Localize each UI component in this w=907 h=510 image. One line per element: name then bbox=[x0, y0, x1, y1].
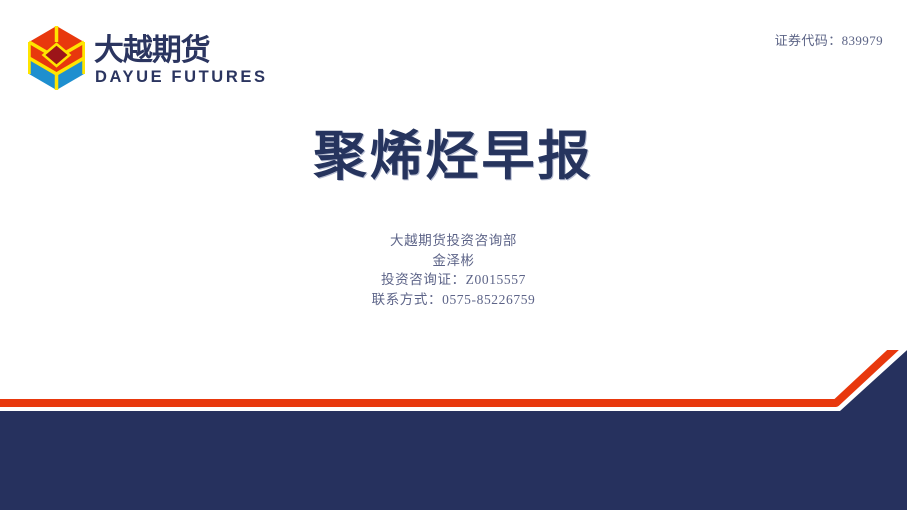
navy-band bbox=[0, 350, 907, 510]
subtitle-department: 大越期货投资咨询部 bbox=[0, 231, 907, 251]
subtitle-author: 金泽彬 bbox=[0, 251, 907, 271]
dayue-hexagon-logo-icon bbox=[28, 25, 85, 91]
svg-text:大越期货: 大越期货 bbox=[94, 33, 210, 67]
bottom-angled-banner bbox=[0, 350, 907, 510]
logo-wordmark: 大越期货 DAYUE FUTURES bbox=[94, 32, 268, 86]
title-container: 聚烯烃早报 bbox=[0, 128, 907, 187]
security-code-label: 证券代码：839979 bbox=[775, 30, 883, 49]
page-title: 聚烯烃早报 bbox=[0, 128, 907, 187]
orange-stripe bbox=[0, 350, 907, 403]
logo-english-name: DAYUE FUTURES bbox=[94, 69, 268, 86]
company-logo: 大越期货 DAYUE FUTURES bbox=[28, 25, 268, 91]
logo-chinese-name-icon: 大越期货 bbox=[94, 32, 234, 68]
subtitle-contact: 联系方式：0575-85226759 bbox=[0, 290, 907, 310]
subtitle-license: 投资咨询证：Z0015557 bbox=[0, 270, 907, 290]
subtitle-container: 大越期货投资咨询部 金泽彬 投资咨询证：Z0015557 联系方式：0575-8… bbox=[0, 231, 907, 309]
white-gap-stroke bbox=[0, 350, 907, 406]
title-slide: 大越期货 DAYUE FUTURES 证券代码：839979 聚烯烃早报 大越期… bbox=[0, 0, 907, 510]
